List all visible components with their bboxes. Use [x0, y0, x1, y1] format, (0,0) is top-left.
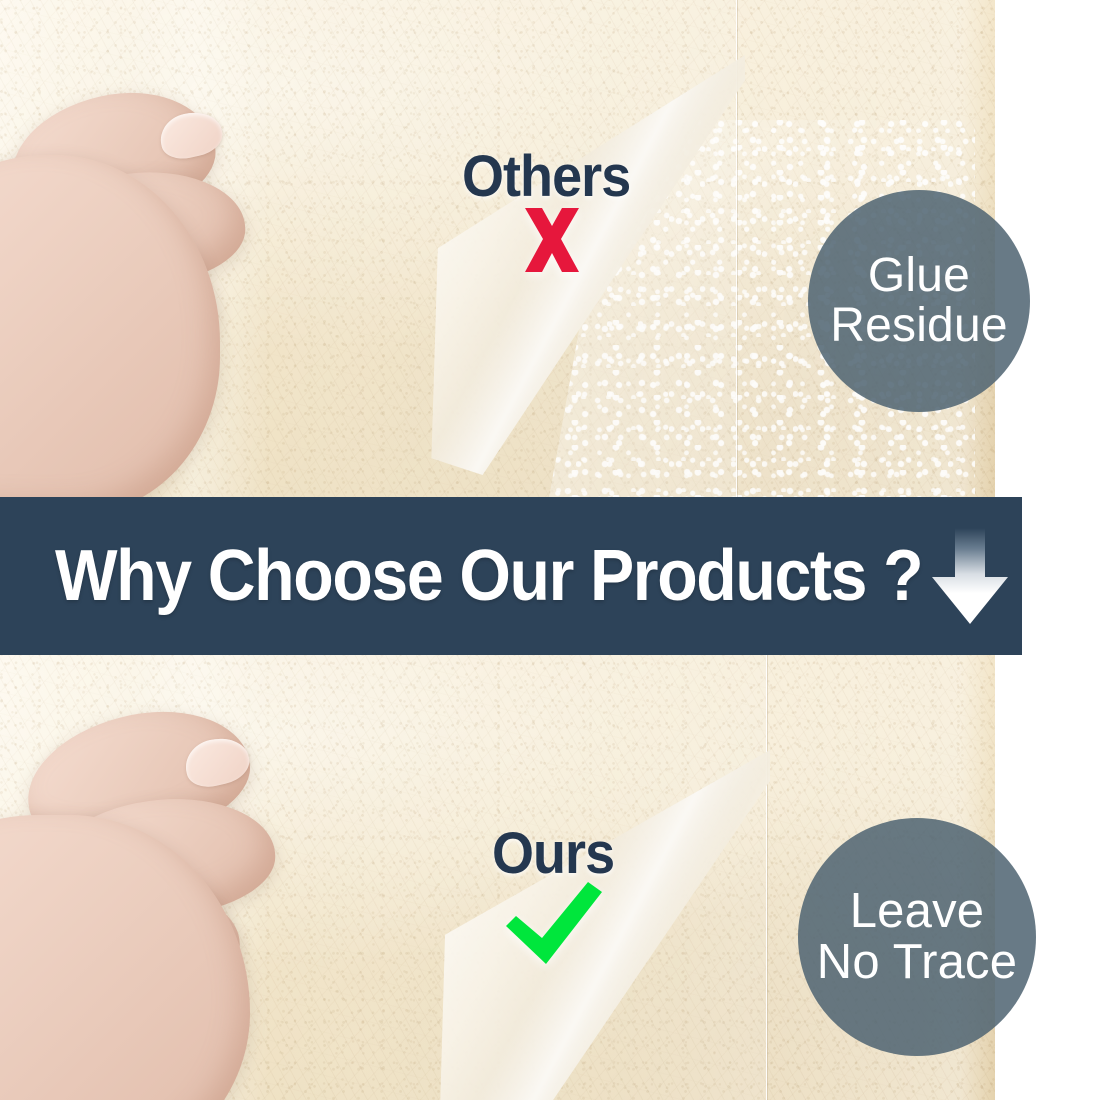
cross-mark-icon: [516, 204, 588, 276]
hand-peeling-film: [0, 95, 330, 500]
badge-trace-line1: Leave: [817, 886, 1017, 937]
banner-title: Why Choose Our Products ?: [55, 535, 922, 617]
headline-banner: Why Choose Our Products ?: [0, 497, 1022, 655]
others-label: Others: [462, 143, 630, 210]
infographic-root: Others Glue Residue Why Choose Our Produ…: [0, 0, 1100, 1100]
badge-glue-line1: Glue: [830, 251, 1008, 301]
check-mark-icon: [502, 880, 606, 966]
badge-glue-residue: Glue Residue: [808, 190, 1030, 412]
ours-label: Ours: [492, 820, 614, 887]
badge-glue-line2: Residue: [830, 301, 1008, 351]
hand-peeling-film: [0, 715, 350, 1100]
badge-trace-line2: No Trace: [817, 937, 1017, 988]
badge-leave-no-trace: Leave No Trace: [798, 818, 1036, 1056]
down-arrow-icon: [928, 528, 1012, 624]
